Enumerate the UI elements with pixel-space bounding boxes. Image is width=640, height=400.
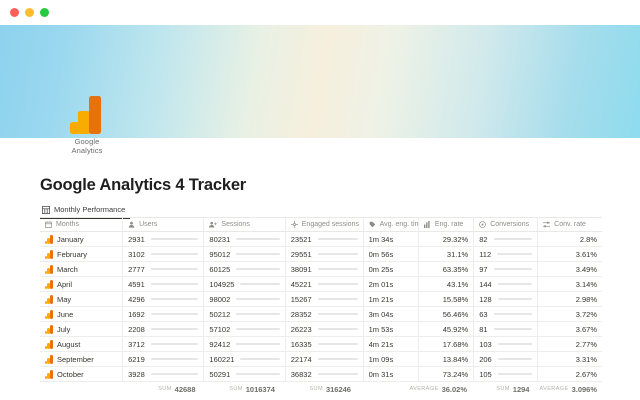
cell-eng-rate[interactable]: 15.58% — [419, 292, 474, 306]
table-row[interactable]: April4591104925452212m 01s43.1%1443.14% — [40, 277, 602, 292]
cell-avg-eng-time[interactable]: 1m 09s — [364, 352, 419, 366]
progress-bar-track — [318, 313, 358, 315]
cell-engaged-sessions[interactable]: 29551 — [286, 247, 364, 261]
cell-conv-rate[interactable]: 2.8% — [538, 232, 602, 246]
page-icon-google-analytics[interactable]: Google Analytics — [56, 96, 118, 155]
cell-conversions[interactable]: 97 — [474, 262, 538, 276]
cell-month[interactable]: March — [40, 262, 123, 276]
summary-value: 316246 — [326, 385, 351, 394]
column-header-avg-eng-time[interactable]: Avg. eng. time — [364, 218, 419, 231]
table-row[interactable]: October392850291368320m 31s73.24%1052.67… — [40, 367, 602, 382]
cell-engaged-sessions[interactable]: 28352 — [286, 307, 364, 321]
summary-cell-engrate[interactable]: AVERAGE36.02% — [410, 382, 472, 396]
summary-cell-conv[interactable]: SUM1294 — [472, 382, 534, 396]
summary-cell-avgtime[interactable] — [356, 382, 410, 396]
summary-cell-sessions[interactable]: SUM1016374 — [201, 382, 280, 396]
summary-cell-months[interactable] — [40, 382, 121, 396]
google-analytics-mini-icon — [45, 355, 53, 364]
sliders-icon — [543, 221, 550, 228]
table-body: January293180231235211m 34s29.32%822.8%F… — [40, 232, 602, 382]
tag-icon — [369, 221, 376, 228]
summary-label: SUM — [496, 386, 509, 392]
cell-avg-eng-time[interactable]: 3m 04s — [364, 307, 419, 321]
summary-label: SUM — [158, 386, 171, 392]
page-title[interactable]: Google Analytics 4 Tracker — [40, 176, 246, 195]
column-header-conversions-label: Conversions — [490, 221, 529, 228]
cell-month[interactable]: January — [40, 232, 123, 246]
cell-conv-rate[interactable]: 3.14% — [538, 277, 602, 291]
table-row[interactable]: July220857102262231m 53s45.92%813.67% — [40, 322, 602, 337]
column-header-users[interactable]: Users — [123, 218, 204, 231]
cell-avg-eng-time[interactable]: 1m 21s — [364, 292, 419, 306]
cell-avg-eng-time[interactable]: 0m 31s — [364, 367, 419, 381]
cell-users[interactable]: 6219 — [123, 352, 204, 366]
logo-caption-line1: Google — [56, 137, 118, 146]
progress-bar-track — [236, 313, 279, 315]
column-header-conversions[interactable]: Conversions — [474, 218, 538, 231]
cell-month[interactable]: May — [40, 292, 123, 306]
column-header-sessions[interactable]: Sessions — [204, 218, 285, 231]
cell-eng-rate[interactable]: 56.46% — [419, 307, 474, 321]
progress-bar-track — [318, 283, 358, 285]
target-icon — [479, 221, 486, 228]
progress-bar-track — [498, 358, 532, 360]
column-header-users-label: Users — [139, 221, 157, 228]
cell-sessions[interactable]: 80231 — [204, 232, 285, 246]
progress-bar-track — [498, 373, 532, 375]
cell-eng-rate[interactable]: 63.35% — [419, 262, 474, 276]
progress-bar-track — [236, 253, 279, 255]
cell-conversions[interactable]: 128 — [474, 292, 538, 306]
cell-conversions[interactable]: 105 — [474, 367, 538, 381]
cell-avg-eng-time[interactable]: 1m 53s — [364, 322, 419, 336]
progress-bar-track — [151, 343, 199, 345]
cell-conversions[interactable]: 206 — [474, 352, 538, 366]
cell-month[interactable]: April — [40, 277, 123, 291]
cell-avg-eng-time[interactable]: 0m 25s — [364, 262, 419, 276]
column-header-avgtime-label: Avg. eng. time — [380, 221, 419, 228]
cell-avg-eng-time[interactable]: 1m 34s — [364, 232, 419, 246]
progress-bar-track — [151, 253, 199, 255]
summary-label: SUM — [229, 386, 242, 392]
summary-cell-users[interactable]: SUM42688 — [121, 382, 200, 396]
cell-conv-rate[interactable]: 3.61% — [538, 247, 602, 261]
progress-bar-track — [151, 373, 199, 375]
cell-avg-eng-time[interactable]: 4m 21s — [364, 337, 419, 351]
google-analytics-mini-icon — [45, 235, 53, 244]
cell-conv-rate[interactable]: 3.49% — [538, 262, 602, 276]
cell-conv-rate[interactable]: 3.31% — [538, 352, 602, 366]
person-icon — [128, 221, 135, 228]
google-analytics-mini-icon — [45, 265, 53, 274]
cell-conv-rate[interactable]: 2.77% — [538, 337, 602, 351]
column-header-months[interactable]: Months — [40, 218, 123, 231]
cell-conversions[interactable]: 144 — [474, 277, 538, 291]
cell-eng-rate[interactable]: 45.92% — [419, 322, 474, 336]
cell-month[interactable]: February — [40, 247, 123, 261]
cell-conversions[interactable]: 82 — [474, 232, 538, 246]
cell-sessions[interactable]: 92412 — [204, 337, 285, 351]
summary-value: 36.02% — [442, 385, 467, 394]
cell-engaged-sessions[interactable]: 38091 — [286, 262, 364, 276]
cell-month[interactable]: August — [40, 337, 123, 351]
google-analytics-mini-icon — [45, 340, 53, 349]
cell-users[interactable]: 2931 — [123, 232, 204, 246]
progress-bar-track — [236, 238, 279, 240]
cell-users[interactable]: 3102 — [123, 247, 204, 261]
progress-bar-track — [151, 283, 199, 285]
cell-conv-rate[interactable]: 2.67% — [538, 367, 602, 381]
cell-conversions[interactable]: 103 — [474, 337, 538, 351]
progress-bar-track — [240, 283, 279, 285]
cell-engaged-sessions[interactable]: 22174 — [286, 352, 364, 366]
cell-sessions[interactable]: 160221 — [204, 352, 285, 366]
cell-eng-rate[interactable]: 17.68% — [419, 337, 474, 351]
cell-eng-rate[interactable]: 13.84% — [419, 352, 474, 366]
cell-engaged-sessions[interactable]: 15267 — [286, 292, 364, 306]
google-analytics-mini-icon — [45, 280, 53, 289]
summary-label: SUM — [309, 386, 322, 392]
progress-bar-track — [151, 238, 199, 240]
table-row[interactable]: January293180231235211m 34s29.32%822.8% — [40, 232, 602, 247]
column-header-months-label: Months — [56, 221, 79, 228]
summary-label: AVERAGE — [539, 386, 568, 392]
table-row[interactable]: May429698002152671m 21s15.58%1282.98% — [40, 292, 602, 307]
progress-bar-track — [236, 343, 279, 345]
cell-engaged-sessions[interactable]: 16335 — [286, 337, 364, 351]
cell-users[interactable]: 3712 — [123, 337, 204, 351]
progress-bar-track — [318, 253, 358, 255]
summary-cell-engaged[interactable]: SUM316246 — [280, 382, 356, 396]
window-titlebar — [0, 0, 640, 25]
cell-engaged-sessions[interactable]: 23521 — [286, 232, 364, 246]
progress-bar-track — [236, 373, 279, 375]
cell-avg-eng-time[interactable]: 2m 01s — [364, 277, 419, 291]
table-row[interactable]: August371292412163354m 21s17.68%1032.77% — [40, 337, 602, 352]
progress-bar-track — [498, 298, 532, 300]
progress-bar-track — [494, 328, 533, 330]
progress-bar-track — [318, 238, 358, 240]
cell-conv-rate[interactable]: 2.98% — [538, 292, 602, 306]
progress-bar-track — [151, 328, 199, 330]
table-row[interactable]: June169250212283523m 04s56.46%633.72% — [40, 307, 602, 322]
progress-bar-track — [151, 298, 199, 300]
cell-eng-rate[interactable]: 43.1% — [419, 277, 474, 291]
table-icon — [42, 206, 50, 214]
progress-bar-track — [497, 253, 532, 255]
progress-bar-track — [318, 268, 358, 270]
progress-bar-track — [494, 268, 533, 270]
progress-bar-track — [236, 328, 279, 330]
google-analytics-mini-icon — [45, 325, 53, 334]
progress-bar-track — [498, 283, 532, 285]
cell-conversions[interactable]: 81 — [474, 322, 538, 336]
summary-value: 1294 — [513, 385, 530, 394]
cell-sessions[interactable]: 50291 — [204, 367, 285, 381]
cell-month[interactable]: June — [40, 307, 123, 321]
cell-conversions[interactable]: 63 — [474, 307, 538, 321]
cell-engaged-sessions[interactable]: 45221 — [286, 277, 364, 291]
google-analytics-mini-icon — [45, 310, 53, 319]
cell-users[interactable]: 3928 — [123, 367, 204, 381]
cell-sessions[interactable]: 95012 — [204, 247, 285, 261]
table-header-row: Months Users Sessions — [40, 217, 602, 232]
table-summary-row: SUM42688SUM1016374SUM316246AVERAGE36.02%… — [40, 382, 602, 396]
summary-value: 42688 — [175, 385, 196, 394]
summary-value: 3.096% — [572, 385, 597, 394]
cell-sessions[interactable]: 60125 — [204, 262, 285, 276]
cell-sessions[interactable]: 50212 — [204, 307, 285, 321]
summary-label: AVERAGE — [409, 386, 438, 392]
column-header-sessions-label: Sessions — [221, 221, 249, 228]
data-table: Months Users Sessions — [40, 217, 602, 382]
progress-bar-track — [240, 358, 279, 360]
cell-users[interactable]: 1692 — [123, 307, 204, 321]
progress-bar-track — [318, 298, 358, 300]
app-window: Google Analytics Google Analytics 4 Trac… — [0, 0, 640, 400]
bars-icon — [424, 221, 431, 228]
tab-label: Monthly Performance — [54, 205, 125, 214]
cell-users[interactable]: 4296 — [123, 292, 204, 306]
progress-bar-track — [236, 298, 279, 300]
cell-engaged-sessions[interactable]: 26223 — [286, 322, 364, 336]
progress-bar-track — [151, 358, 199, 360]
progress-bar-track — [236, 268, 279, 270]
cell-eng-rate[interactable]: 73.24% — [419, 367, 474, 381]
progress-bar-track — [498, 343, 532, 345]
progress-bar-track — [494, 238, 533, 240]
window-minimize-button[interactable] — [25, 8, 34, 17]
summary-value: 1016374 — [246, 385, 275, 394]
google-analytics-mini-icon — [45, 370, 53, 379]
progress-bar-track — [318, 328, 358, 330]
cell-users[interactable]: 2208 — [123, 322, 204, 336]
column-header-conv-rate[interactable]: Conv. rate — [538, 218, 602, 231]
column-header-engaged-sessions[interactable]: Engaged sessions — [286, 218, 364, 231]
google-analytics-mini-icon — [45, 295, 53, 304]
calendar-icon — [45, 221, 52, 228]
table-row[interactable]: March277760125380910m 25s63.35%973.49% — [40, 262, 602, 277]
progress-bar-track — [151, 268, 199, 270]
cell-engaged-sessions[interactable]: 36832 — [286, 367, 364, 381]
progress-bar-track — [318, 358, 358, 360]
column-header-convrate-label: Conv. rate — [554, 221, 586, 228]
logo-caption-line2: Analytics — [56, 146, 118, 155]
summary-cell-convrate[interactable]: AVERAGE3.096% — [534, 382, 602, 396]
cell-month[interactable]: October — [40, 367, 123, 381]
column-header-eng-rate[interactable]: Eng. rate — [419, 218, 474, 231]
cell-month[interactable]: September — [40, 352, 123, 366]
sparkle-icon — [291, 221, 298, 228]
column-header-engaged-label: Engaged sessions — [302, 221, 359, 228]
cell-sessions[interactable]: 104925 — [204, 277, 285, 291]
cell-eng-rate[interactable]: 29.32% — [419, 232, 474, 246]
progress-bar-track — [151, 313, 199, 315]
cell-avg-eng-time[interactable]: 0m 56s — [364, 247, 419, 261]
google-analytics-logo-icon — [70, 96, 104, 134]
window-maximize-button[interactable] — [40, 8, 49, 17]
cell-conv-rate[interactable]: 3.72% — [538, 307, 602, 321]
cell-conversions[interactable]: 112 — [474, 247, 538, 261]
cell-eng-rate[interactable]: 31.1% — [419, 247, 474, 261]
cell-conv-rate[interactable]: 3.67% — [538, 322, 602, 336]
progress-bar-track — [318, 373, 358, 375]
person-plus-icon — [209, 221, 217, 228]
cell-users[interactable]: 4591 — [123, 277, 204, 291]
cell-users[interactable]: 2777 — [123, 262, 204, 276]
progress-bar-track — [494, 313, 533, 315]
progress-bar-track — [318, 343, 358, 345]
table-row[interactable]: September6219160221221741m 09s13.84%2063… — [40, 352, 602, 367]
window-close-button[interactable] — [10, 8, 19, 17]
cell-sessions[interactable]: 98002 — [204, 292, 285, 306]
table-row[interactable]: February310295012295510m 56s31.1%1123.61… — [40, 247, 602, 262]
cell-sessions[interactable]: 57102 — [204, 322, 285, 336]
cell-month[interactable]: July — [40, 322, 123, 336]
column-header-engrate-label: Eng. rate — [435, 221, 463, 228]
google-analytics-mini-icon — [45, 250, 53, 259]
